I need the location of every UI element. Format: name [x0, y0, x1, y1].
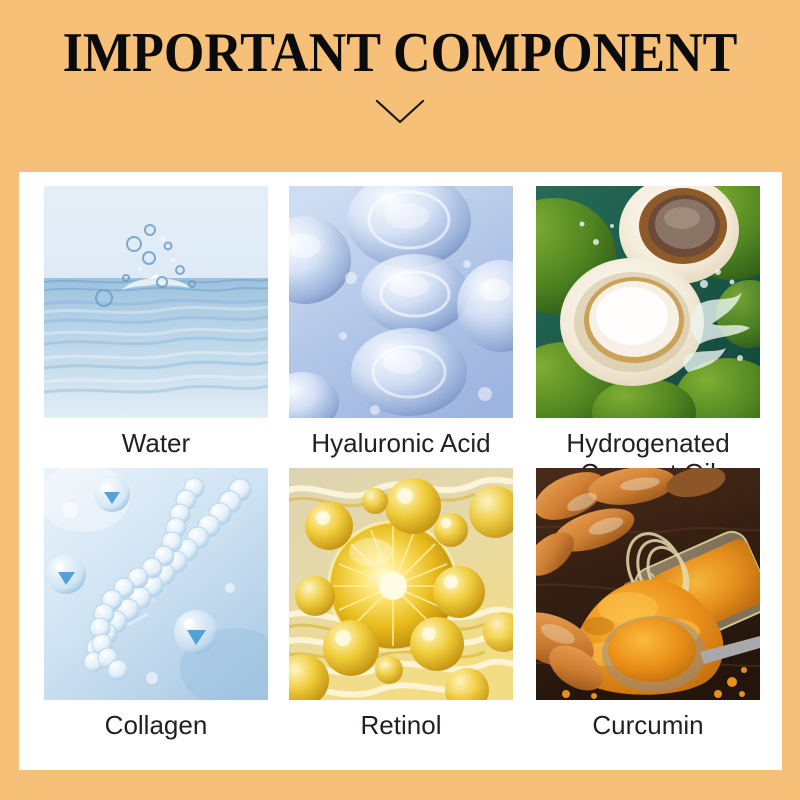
component-cell-retinol[interactable]: Retinol	[289, 468, 513, 740]
components-grid: Water	[44, 186, 760, 750]
component-label: Collagen	[44, 710, 268, 740]
retinol-oil-droplets-image	[289, 468, 513, 700]
component-cell-hyaluronic-acid[interactable]: Hyaluronic Acid	[289, 186, 513, 458]
hyaluronic-acid-bubbles-image	[289, 186, 513, 418]
component-label: Retinol	[289, 710, 513, 740]
component-label: Water	[44, 428, 268, 458]
components-row: Water	[44, 186, 760, 468]
curcumin-turmeric-image	[536, 468, 760, 700]
page-title: IMPORTANT COMPONENT	[28, 24, 772, 82]
components-row: Collagen	[44, 468, 760, 750]
component-cell-water[interactable]: Water	[44, 186, 268, 458]
water-splash-image	[44, 186, 268, 418]
component-cell-curcumin[interactable]: Curcumin	[536, 468, 760, 740]
chevron-down-icon	[375, 98, 425, 126]
component-label: Hyaluronic Acid	[289, 428, 513, 458]
component-label: Curcumin	[536, 710, 760, 740]
components-card: Water	[19, 172, 782, 770]
infographic-page: IMPORTANT COMPONENT	[0, 0, 800, 800]
component-cell-coconut-oil[interactable]: Hydrogenated Coconut Oil	[536, 186, 760, 488]
collagen-dna-image	[44, 468, 268, 700]
component-cell-collagen[interactable]: Collagen	[44, 468, 268, 740]
coconut-oil-image	[536, 186, 760, 418]
